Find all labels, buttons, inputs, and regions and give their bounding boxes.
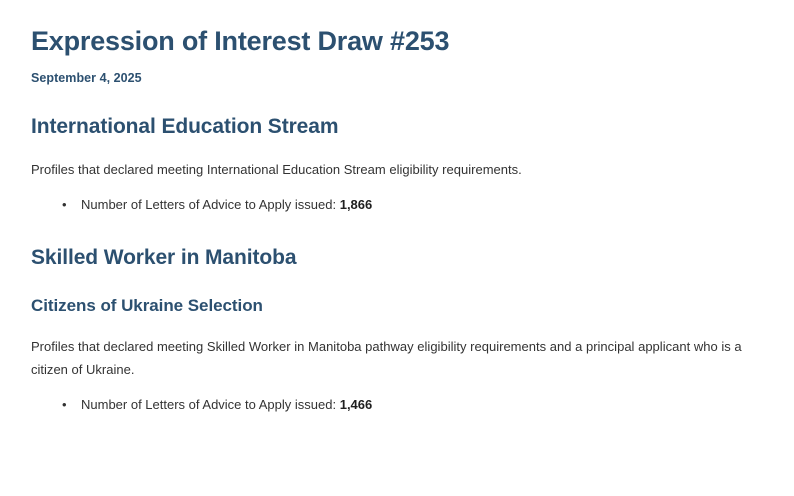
section-heading-skilled-worker-in-manitoba: Skilled Worker in Manitoba bbox=[31, 245, 762, 270]
stat-value: 1,866 bbox=[340, 197, 373, 212]
stat-value: 1,466 bbox=[340, 397, 373, 412]
draw-date: September 4, 2025 bbox=[31, 71, 762, 86]
subsection-heading-citizens-of-ukraine-selection: Citizens of Ukraine Selection bbox=[31, 296, 762, 316]
document-page: Expression of Interest Draw #253 Septemb… bbox=[0, 0, 794, 496]
stat-list-international-education-stream: Number of Letters of Advice to Apply iss… bbox=[31, 194, 762, 216]
stat-label: Number of Letters of Advice to Apply iss… bbox=[81, 197, 336, 212]
section-body-skilled-worker-in-manitoba: Profiles that declared meeting Skilled W… bbox=[31, 336, 762, 381]
section-body-international-education-stream: Profiles that declared meeting Internati… bbox=[31, 159, 762, 181]
section-international-education-stream: International Education Stream Profiles … bbox=[31, 114, 762, 217]
stat-label: Number of Letters of Advice to Apply iss… bbox=[81, 397, 336, 412]
document-content: Expression of Interest Draw #253 Septemb… bbox=[31, 26, 762, 416]
stat-list-skilled-worker-in-manitoba: Number of Letters of Advice to Apply iss… bbox=[31, 394, 762, 416]
page-title: Expression of Interest Draw #253 bbox=[31, 26, 762, 58]
list-item: Number of Letters of Advice to Apply iss… bbox=[71, 194, 762, 216]
list-item: Number of Letters of Advice to Apply iss… bbox=[71, 394, 762, 416]
section-skilled-worker-in-manitoba: Skilled Worker in Manitoba Citizens of U… bbox=[31, 245, 762, 417]
section-heading-international-education-stream: International Education Stream bbox=[31, 114, 762, 139]
